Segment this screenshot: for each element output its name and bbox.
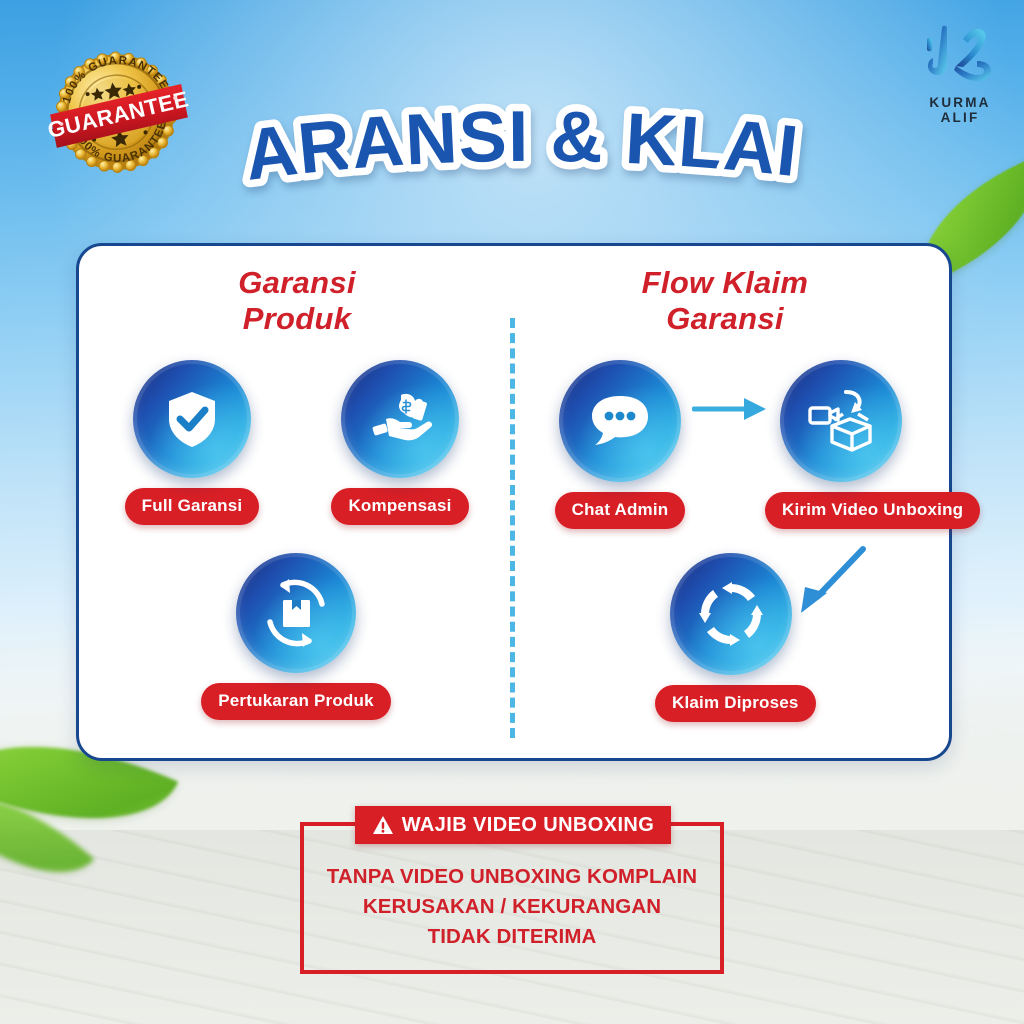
label-chat-admin: Chat Admin [555, 492, 686, 529]
label-klaim-diproses: Klaim Diproses [655, 685, 816, 722]
left-column-heading: Garansi Produk [117, 265, 477, 337]
right-column-heading: Flow Klaim Garansi [545, 265, 905, 337]
kurma-alif-mark [908, 20, 1012, 88]
icon-circle-pertukaran-produk [236, 553, 356, 673]
page-title: GARANSI & KLAIM [0, 88, 1024, 198]
column-divider [510, 318, 515, 738]
chat-bubble-icon [588, 392, 652, 450]
left-heading-line-2: Produk [117, 301, 477, 337]
label-kompensasi: Kompensasi [331, 488, 468, 525]
icon-circle-kirim-video-unboxing [780, 360, 902, 482]
flow-arrow-diagonal-icon [793, 543, 873, 623]
right-heading-line-2: Garansi [545, 301, 905, 337]
warning-body-text: TANPA VIDEO UNBOXING KOMPLAIN KERUSAKAN … [300, 862, 724, 952]
right-heading-line-1: Flow Klaim [545, 265, 905, 301]
item-pertukaran-produk[interactable]: Pertukaran Produk [196, 553, 396, 720]
box-exchange-icon [259, 576, 333, 650]
warning-banner: WAJIB VIDEO UNBOXING [355, 806, 671, 844]
process-cycle-icon [697, 580, 765, 648]
label-kirim-video-unboxing: Kirim Video Unboxing [765, 492, 980, 529]
shield-check-icon [161, 388, 223, 450]
warning-body-line-2: KERUSAKAN / KEKURANGAN [300, 892, 724, 922]
item-kirim-video-unboxing[interactable]: Kirim Video Unboxing [765, 360, 917, 529]
svg-text:GARANSI & KLAIM: GARANSI & KLAIM [0, 88, 803, 196]
item-klaim-diproses[interactable]: Klaim Diproses [655, 553, 807, 722]
item-chat-admin[interactable]: Chat Admin [545, 360, 695, 529]
warning-triangle-icon [372, 815, 394, 835]
icon-circle-klaim-diproses [670, 553, 792, 675]
icon-circle-chat-admin [559, 360, 681, 482]
flow-arrow-horizontal-icon [692, 392, 770, 426]
label-full-garansi: Full Garansi [125, 488, 260, 525]
video-box-icon [806, 388, 876, 454]
warning-body-line-1: TANPA VIDEO UNBOXING KOMPLAIN [300, 862, 724, 892]
hand-money-icon [368, 389, 432, 449]
icon-circle-kompensasi [341, 360, 459, 478]
warning-banner-text: WAJIB VIDEO UNBOXING [402, 814, 654, 837]
warning-body-line-3: TIDAK DITERIMA [300, 922, 724, 952]
item-kompensasi[interactable]: Kompensasi [320, 360, 480, 525]
item-full-garansi[interactable]: Full Garansi [112, 360, 272, 525]
left-heading-line-1: Garansi [117, 265, 477, 301]
icon-circle-full-garansi [133, 360, 251, 478]
label-pertukaran-produk: Pertukaran Produk [201, 683, 391, 720]
page-title-text: GARANSI & KLAIM [0, 88, 803, 196]
